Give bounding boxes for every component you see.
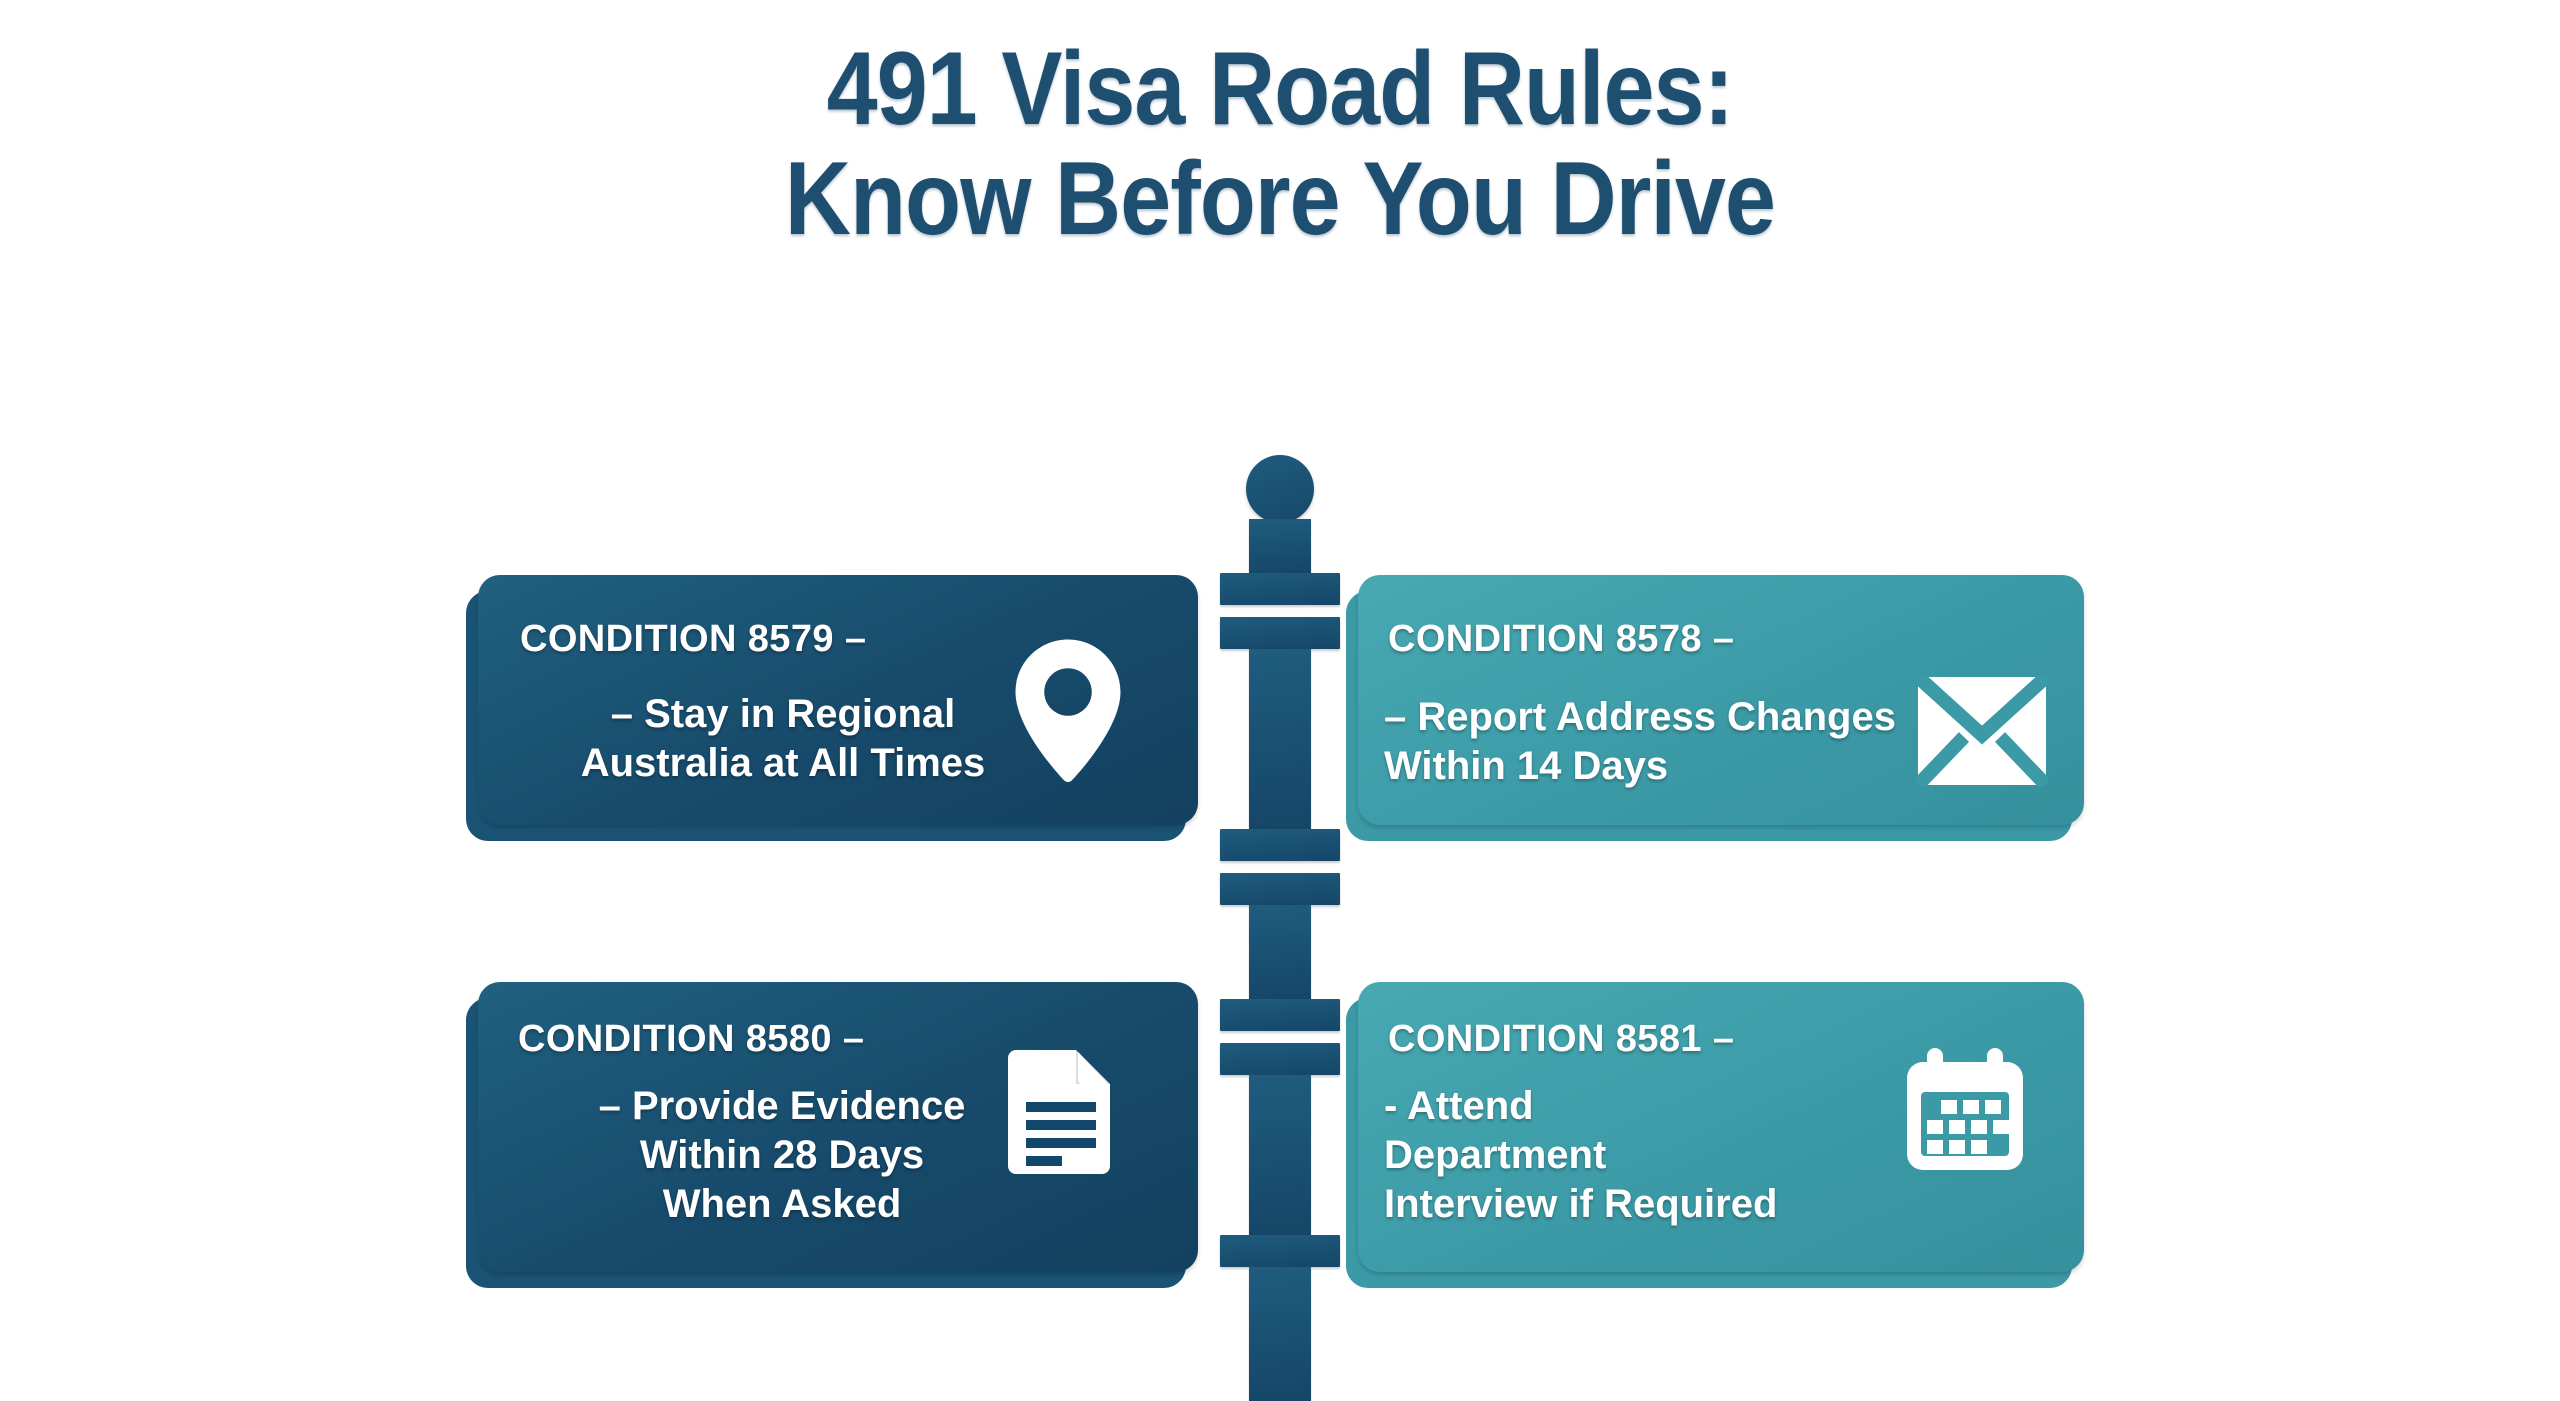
card-surface: CONDITION 8580 – – Provide Evidence With… [478, 982, 1198, 1272]
envelope-icon [1916, 675, 2048, 787]
condition-card-8580[interactable]: CONDITION 8580 – – Provide Evidence With… [478, 982, 1198, 1272]
document-icon [1008, 1050, 1114, 1174]
signpost-collar-7 [1220, 1235, 1340, 1267]
signpost-collar-5 [1220, 999, 1340, 1031]
location-pin-icon [1013, 637, 1123, 787]
signpost-collar-6 [1220, 1043, 1340, 1075]
condition-card-8581[interactable]: CONDITION 8581 – - Attend Department Int… [1358, 982, 2084, 1272]
card-surface: CONDITION 8579 – – Stay in Regional Aust… [478, 575, 1198, 825]
card-body: - Attend Department Interview if Require… [1384, 1082, 1964, 1228]
card-body-line: Within 28 Days [502, 1131, 1062, 1180]
card-body-line: Australia at All Times [508, 739, 1058, 788]
page-title-line-1: 491 Visa Road Rules: [154, 34, 2407, 144]
condition-card-8579[interactable]: CONDITION 8579 – – Stay in Regional Aust… [478, 575, 1198, 825]
card-body: – Provide Evidence Within 28 Days When A… [502, 1082, 1062, 1228]
condition-card-8578[interactable]: CONDITION 8578 – – Report Address Change… [1358, 575, 2084, 825]
card-heading: CONDITION 8579 – [520, 620, 866, 660]
card-heading: CONDITION 8580 – [518, 1020, 864, 1060]
page-title-line-2: Know Before You Drive [154, 144, 2407, 254]
signpost-collar-3 [1220, 829, 1340, 861]
signpost [1220, 455, 1340, 1401]
card-body-line: – Report Address Changes [1384, 693, 2004, 742]
card-surface: CONDITION 8578 – – Report Address Change… [1358, 575, 2084, 825]
signpost-collar-1 [1220, 573, 1340, 605]
card-body: – Report Address Changes Within 14 Days [1384, 693, 2004, 791]
card-body-line: Department [1384, 1131, 1964, 1180]
signpost-shaft-4 [1249, 1267, 1311, 1401]
card-body-line: When Asked [502, 1180, 1062, 1229]
card-body-line: - Attend [1384, 1082, 1964, 1131]
signpost-finial-icon [1246, 455, 1314, 523]
signpost-shaft-3 [1249, 1075, 1311, 1235]
signpost-shaft-2 [1249, 905, 1311, 999]
calendar-icon [1903, 1044, 2027, 1174]
card-heading: CONDITION 8581 – [1388, 1020, 1734, 1060]
card-body-line: – Provide Evidence [502, 1082, 1062, 1131]
signpost-collar-2 [1220, 617, 1340, 649]
card-surface: CONDITION 8581 – - Attend Department Int… [1358, 982, 2084, 1272]
card-body-line: Within 14 Days [1384, 742, 2004, 791]
card-body-line: Interview if Required [1384, 1180, 1964, 1229]
card-body: – Stay in Regional Australia at All Time… [508, 690, 1058, 788]
signpost-neck [1249, 519, 1311, 573]
card-body-line: – Stay in Regional [508, 690, 1058, 739]
signpost-collar-4 [1220, 873, 1340, 905]
card-heading: CONDITION 8578 – [1388, 620, 1734, 660]
page-title: 491 Visa Road Rules: Know Before You Dri… [154, 34, 2407, 254]
signpost-shaft-1 [1249, 649, 1311, 829]
